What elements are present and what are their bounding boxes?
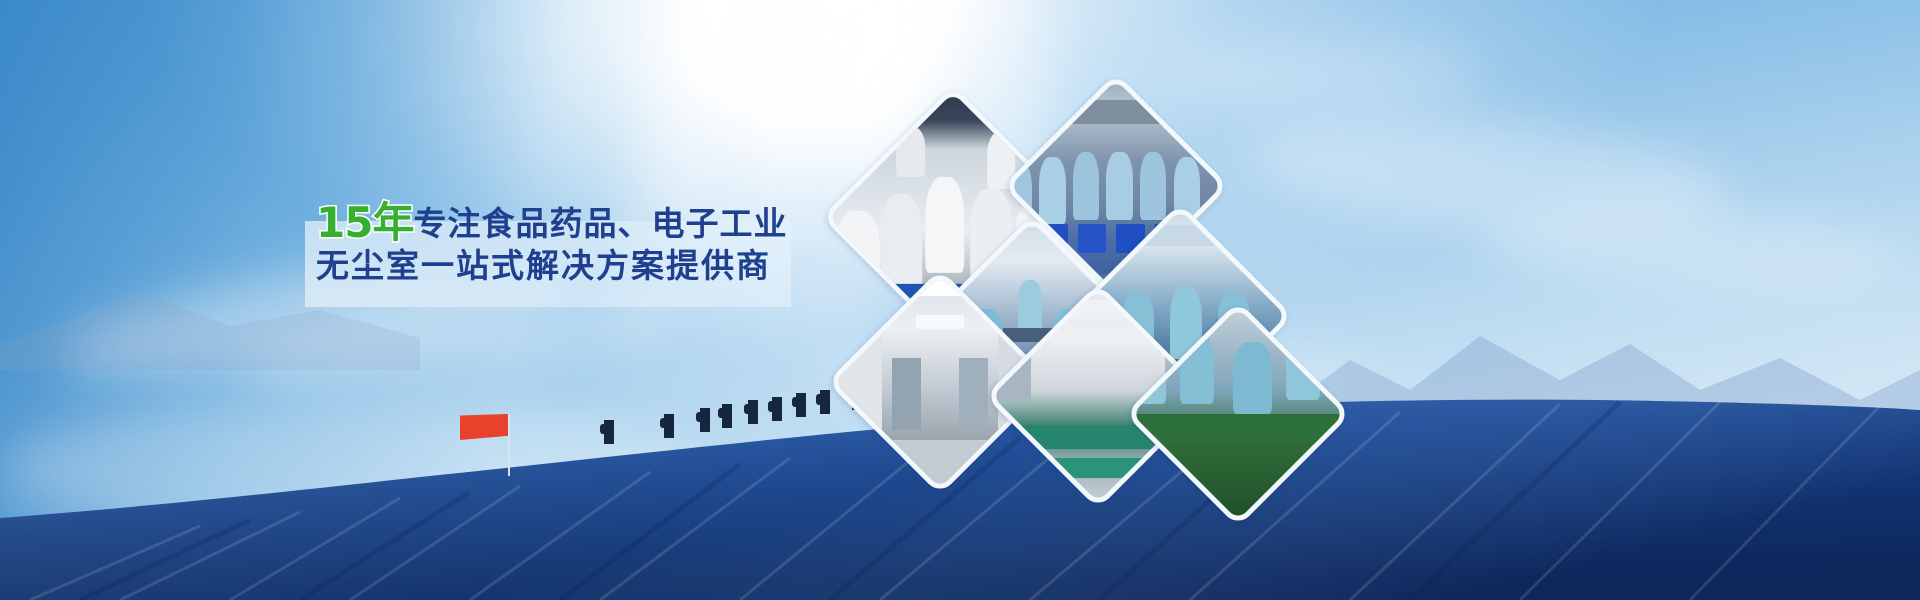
hero-banner: 15年专注食品药品、电子工业 无尘室一站式解决方案提供商 [0, 0, 1920, 600]
headline-line-2: 无尘室一站式解决方案提供商 [316, 248, 836, 294]
headline: 15年专注食品药品、电子工业 无尘室一站式解决方案提供商 [316, 200, 836, 294]
years-badge: 15年 [316, 198, 413, 247]
headline-line-1-text: 专注食品药品、电子工业 [413, 204, 787, 243]
headline-line-1: 15年专注食品药品、电子工业 [316, 200, 836, 246]
headline-line-2-text: 无尘室一站式解决方案提供商 [316, 246, 771, 285]
diamond-photo-grid [840, 86, 1280, 466]
